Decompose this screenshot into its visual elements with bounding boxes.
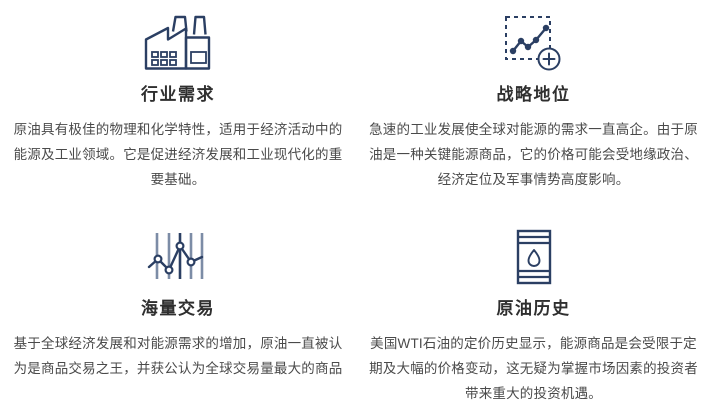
feature-card-strategic-position: 战略地位 急速的工业发展使全球对能源的需求一直高企。由于原油是一种关键能源商品，… bbox=[356, 0, 711, 207]
feature-grid: 行业需求 原油具有极佳的物理和化学特性，适用于经济活动中的能源及工业领域。它是促… bbox=[0, 0, 711, 414]
card-title: 战略地位 bbox=[497, 85, 571, 105]
line-chart-add-icon bbox=[503, 11, 565, 75]
factory-icon bbox=[142, 11, 214, 75]
card-title: 海量交易 bbox=[141, 299, 215, 319]
feature-card-industry-demand: 行业需求 原油具有极佳的物理和化学特性，适用于经济活动中的能源及工业领域。它是促… bbox=[0, 0, 356, 207]
oil-barrel-icon bbox=[512, 225, 556, 289]
card-body: 美国WTI石油的定价历史显示，能源商品是会受限于定期及大幅的价格变动，这无疑为掌… bbox=[369, 331, 699, 406]
card-title: 行业需求 bbox=[141, 85, 215, 105]
feature-card-massive-trading: 海量交易 基于全球经济发展和对能源需求的增加，原油一直被认为是商品交易之王，并获… bbox=[0, 207, 356, 414]
card-body: 急速的工业发展使全球对能源的需求一直高企。由于原油是一种关键能源商品，它的价格可… bbox=[366, 117, 702, 192]
trading-volume-chart-icon bbox=[147, 225, 209, 289]
card-title: 原油历史 bbox=[497, 299, 571, 319]
card-body: 原油具有极佳的物理和化学特性，适用于经济活动中的能源及工业领域。它是促进经济发展… bbox=[12, 117, 344, 192]
card-body: 基于全球经济发展和对能源需求的增加，原油一直被认为是商品交易之王，并获公认为全球… bbox=[8, 331, 348, 381]
feature-card-crude-oil-history: 原油历史 美国WTI石油的定价历史显示，能源商品是会受限于定期及大幅的价格变动，… bbox=[356, 207, 711, 414]
